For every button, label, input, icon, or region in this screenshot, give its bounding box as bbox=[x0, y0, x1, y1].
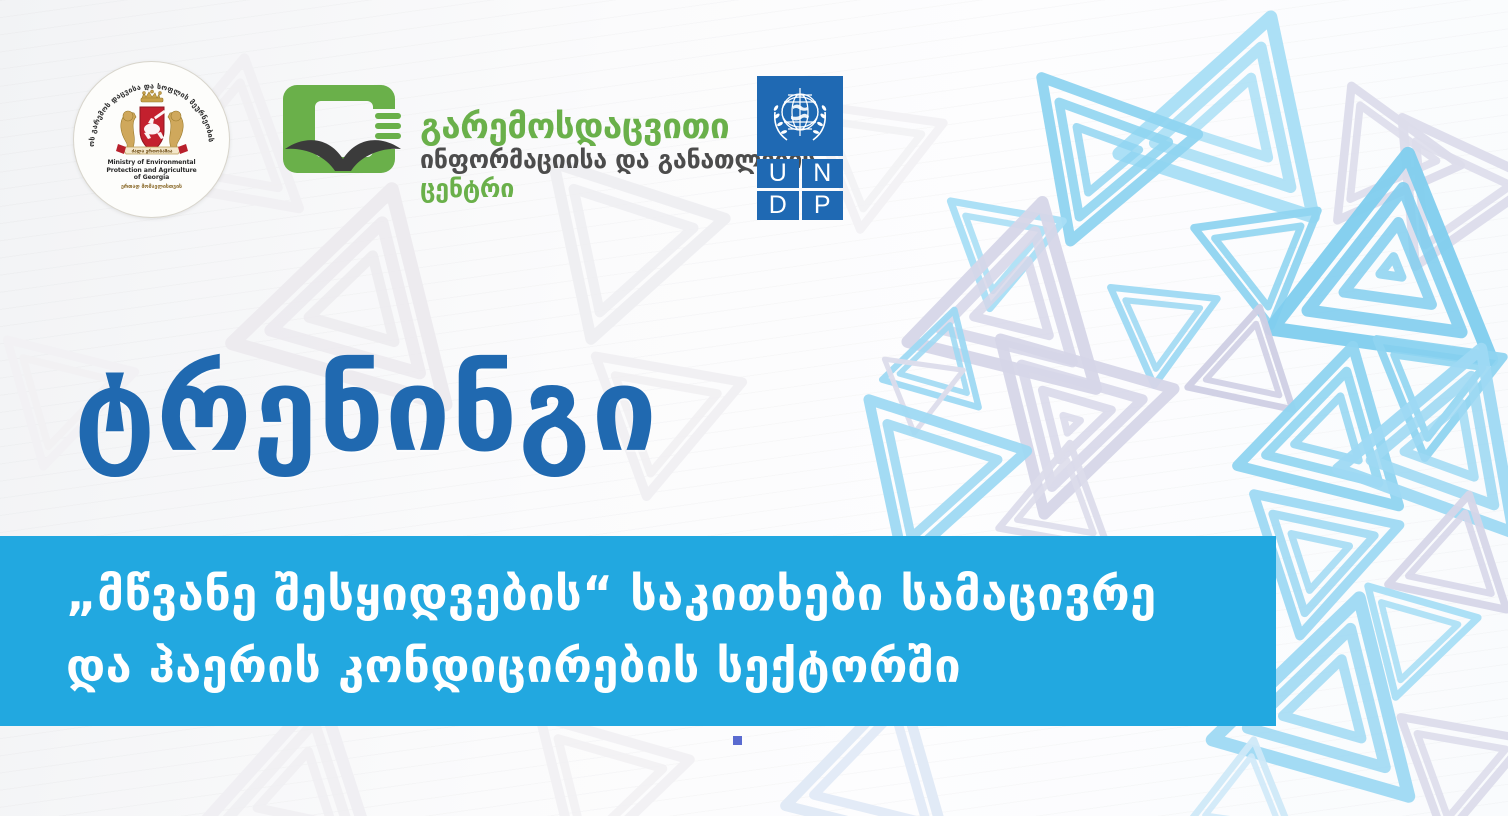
page-title: ტრენინგი bbox=[74, 353, 658, 469]
triangle-decor bbox=[1199, 297, 1466, 564]
seal-english-line-2: Protection and Agriculture bbox=[74, 167, 229, 175]
seal-english-text: Ministry of Environmental Protection and… bbox=[74, 159, 229, 182]
triangle-decor bbox=[852, 324, 988, 460]
triangle-decor bbox=[1335, 293, 1508, 492]
undp-letter-p: P bbox=[802, 191, 844, 220]
logo-row: საქართველოს გარემოს დაცვისა და სოფლის მე… bbox=[0, 0, 1508, 240]
undp-letter-u: U bbox=[757, 159, 799, 188]
decorative-dot bbox=[733, 736, 742, 745]
triangle-decor bbox=[1356, 456, 1508, 655]
undp-letter-grid: U N D P bbox=[757, 159, 843, 220]
triangle-decor bbox=[1313, 541, 1508, 739]
un-emblem-icon bbox=[757, 76, 843, 156]
environmental-information-education-center-logo: გარემოსდაცვითი ინფორმაციისა და განათლები… bbox=[283, 79, 723, 203]
open-book-leaf-icon bbox=[283, 79, 409, 189]
subtitle-banner: „მწვანე შესყიდვების“ საკითხები სამაცივრე… bbox=[0, 536, 1276, 726]
banner-line-2: და ჰაერის კონდიცირების სექტორში bbox=[66, 631, 1246, 703]
banner-line-1: „მწვანე შესყიდვების“ საკითხები სამაცივრე bbox=[66, 559, 1246, 631]
undp-letter-d: D bbox=[757, 191, 799, 220]
undp-letter-n: N bbox=[802, 159, 844, 188]
triangle-decor bbox=[1076, 246, 1243, 413]
eiec-logo-wordmark: გარემოსდაცვითი ინფორმაციისა და განათლები… bbox=[420, 109, 720, 203]
seal-georgian-footer: ერთად მომავლისთვის bbox=[74, 184, 229, 190]
svg-text:ძალა ერთობაშია: ძალა ერთობაშია bbox=[131, 147, 172, 154]
triangle-decor bbox=[1354, 670, 1508, 816]
triangle-decor bbox=[1292, 284, 1508, 597]
eiec-line-1: გარემოსდაცვითი bbox=[420, 109, 720, 145]
triangle-decor bbox=[924, 278, 1216, 570]
triangle-decor bbox=[1158, 272, 1338, 452]
eiec-line-2: ინფორმაციისა და განათლების bbox=[420, 145, 720, 174]
poster-canvas: საქართველოს გარემოს დაცვისა და სოფლის მე… bbox=[0, 0, 1508, 816]
seal-english-line-3: of Georgia bbox=[74, 174, 229, 182]
georgia-coat-of-arms-icon: ძალა ერთობაშია bbox=[104, 89, 200, 163]
ministry-of-environment-seal-logo: საქართველოს გარემოს დაცვისა და სოფლის მე… bbox=[74, 62, 229, 217]
seal-english-line-1: Ministry of Environmental bbox=[74, 159, 229, 167]
undp-logo: U N D P bbox=[757, 76, 843, 220]
triangle-decor bbox=[851, 271, 1029, 449]
eiec-line-3: ცენტრი bbox=[420, 174, 720, 203]
